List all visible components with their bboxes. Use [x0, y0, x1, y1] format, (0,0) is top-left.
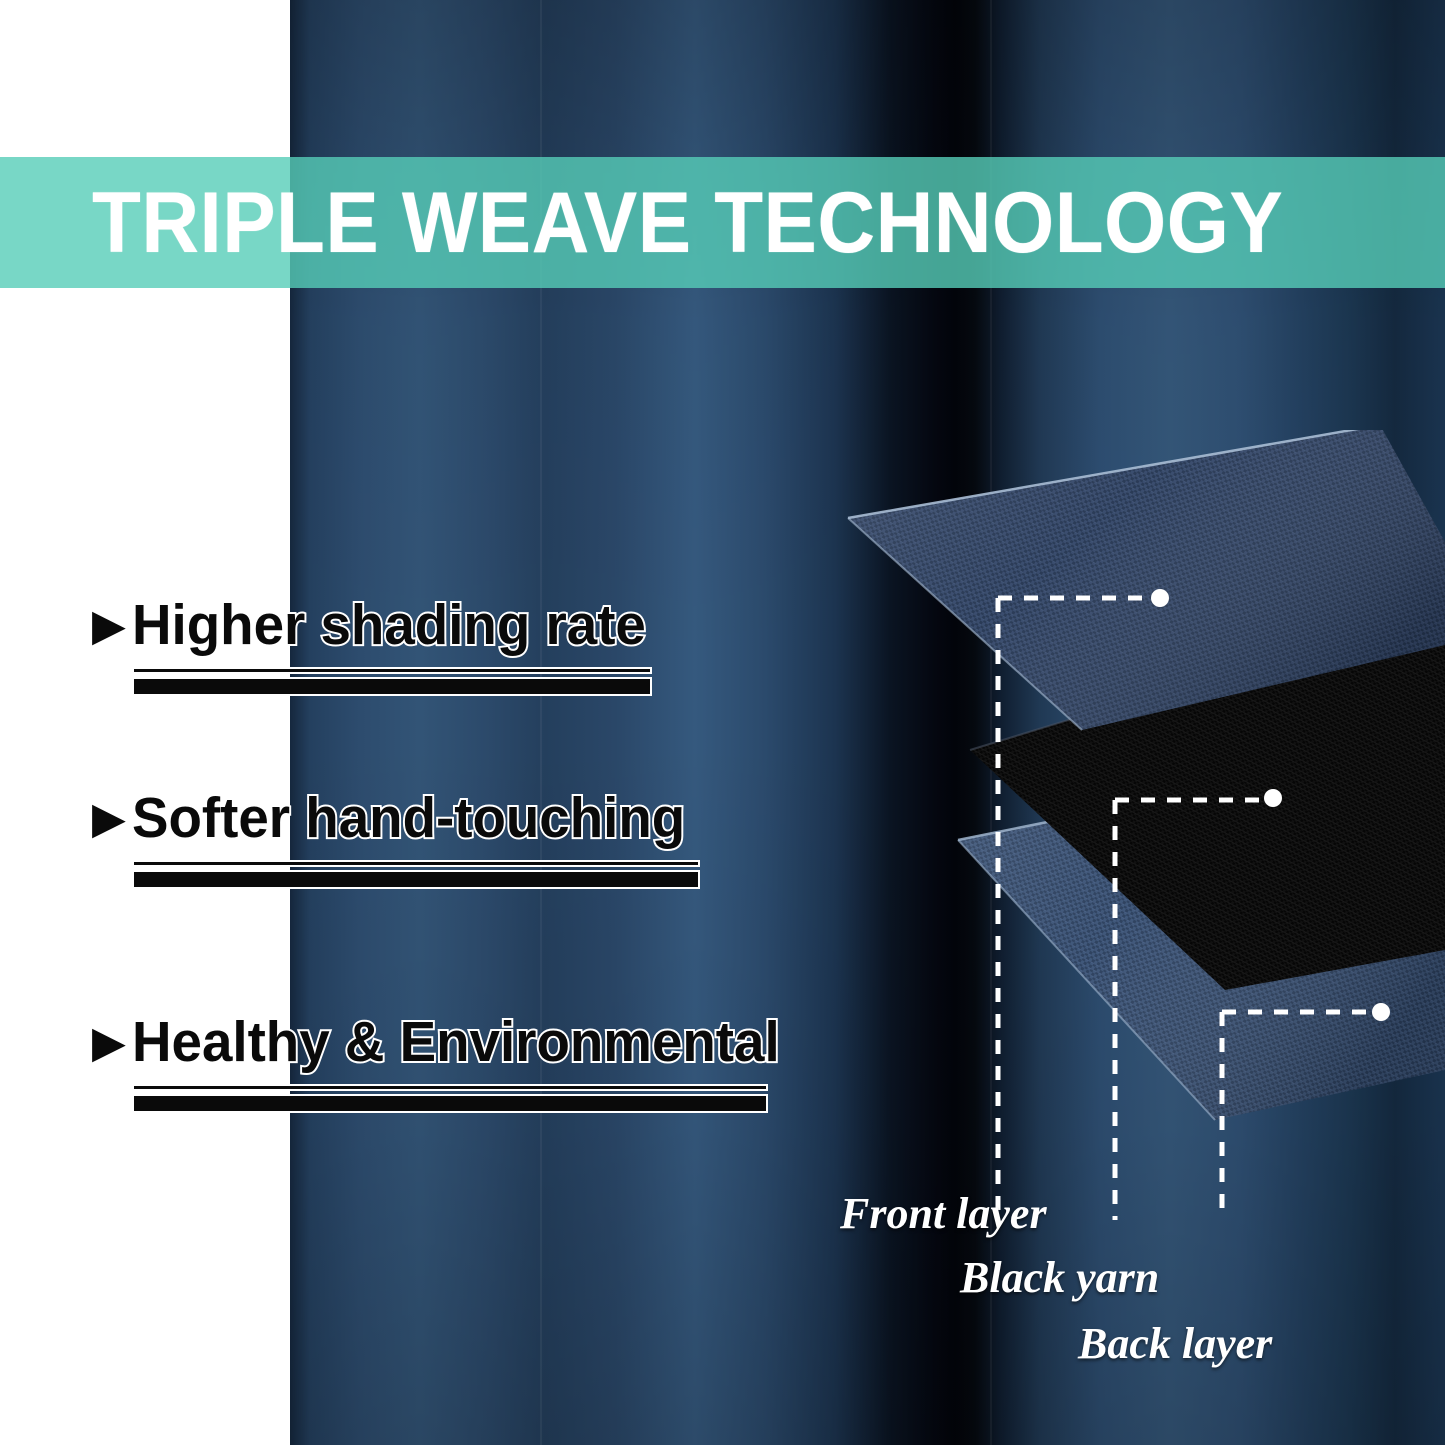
page-title: TRIPLE WEAVE TECHNOLOGY	[92, 180, 1283, 266]
feature-underline	[132, 860, 700, 889]
header-banner: TRIPLE WEAVE TECHNOLOGY	[0, 157, 1445, 288]
leader-dot-back-layer	[1372, 1003, 1390, 1021]
feature-item-higher-shading-rate: ▶ Higher shading rate	[92, 596, 667, 696]
feature-label: Higher shading rate	[132, 596, 646, 655]
callout-black-yarn: Black yarn	[960, 1256, 1159, 1300]
callout-back-layer: Back layer	[1078, 1322, 1272, 1366]
feature-item-healthy-environmental: ▶ Healthy & Environmental	[92, 1013, 807, 1113]
triangle-bullet-icon: ▶	[92, 797, 126, 841]
triangle-bullet-icon: ▶	[92, 604, 126, 648]
callout-front-layer: Front layer	[840, 1192, 1047, 1236]
feature-label: Healthy & Environmental	[132, 1013, 780, 1072]
triple-layer-diagram	[820, 430, 1445, 1220]
feature-item-softer-hand-touching: ▶ Softer hand-touching	[92, 789, 708, 889]
product-infographic: Front layer Black yarn Back layer TRIPLE…	[0, 0, 1445, 1445]
triangle-bullet-icon: ▶	[92, 1021, 126, 1065]
feature-underline	[132, 667, 652, 696]
feature-label: Softer hand-touching	[132, 789, 685, 848]
feature-underline	[132, 1084, 768, 1113]
leader-dot-black-yarn	[1264, 789, 1282, 807]
leader-dot-front-layer	[1151, 589, 1169, 607]
